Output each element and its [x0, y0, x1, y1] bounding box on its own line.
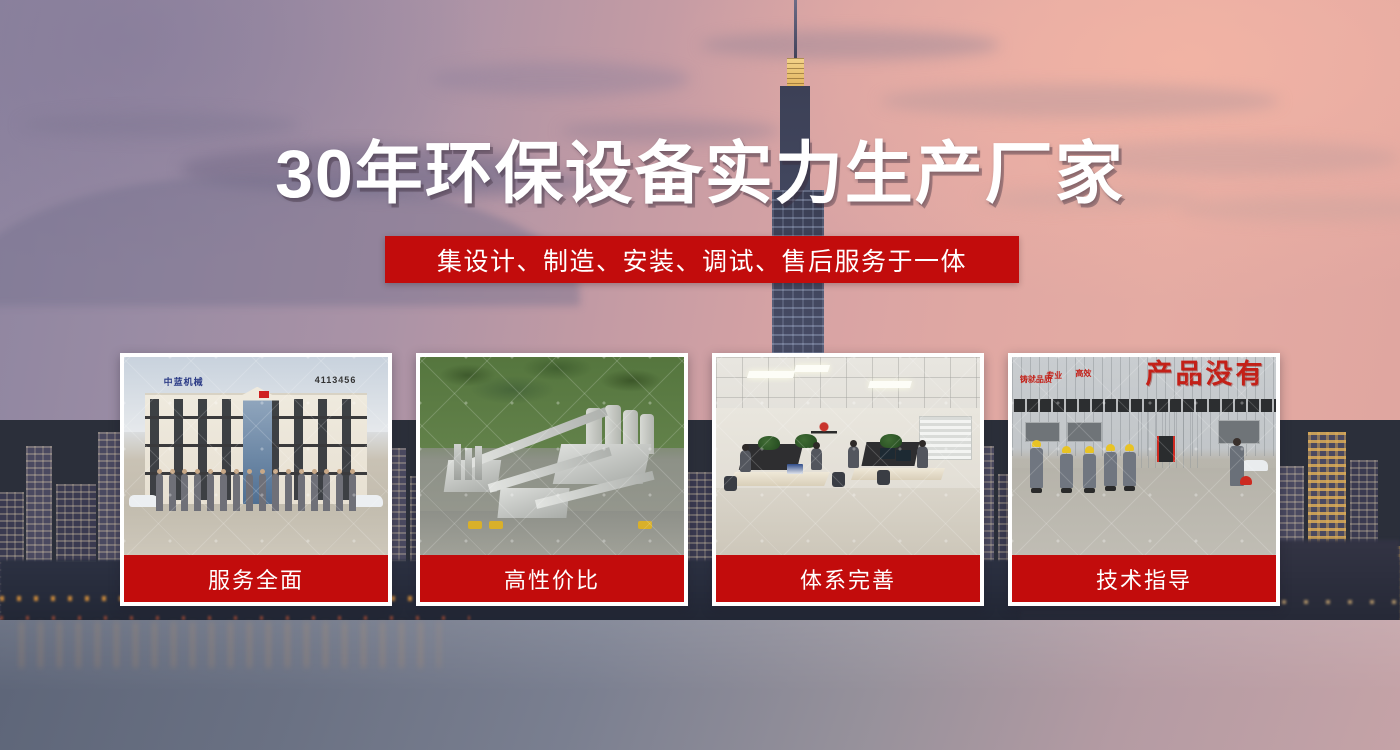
feature-card[interactable]: 体系完善 [712, 353, 984, 606]
card-photo-plant [420, 357, 684, 555]
card-label: 体系完善 [716, 555, 980, 602]
building-phone-text: 4113456 [315, 375, 357, 385]
cloud-shape [430, 62, 690, 96]
subtitle-banner: 集设计、制造、安装、调试、售后服务于一体 [385, 236, 1019, 283]
wall-slogan-main: 产品没有 [1145, 361, 1265, 388]
river-reflections [20, 622, 440, 668]
hero-banner: 30年环保设备实力生产厂家 集设计、制造、安装、调试、售后服务于一体 中蓝机械 … [0, 0, 1400, 750]
wall-slogan-c: 高效 [1075, 369, 1091, 379]
feature-card-list: 中蓝机械 4113456 服务全面 [120, 353, 1280, 606]
red-helmet-icon [1240, 476, 1252, 485]
card-photo-training: 产品没有 铸就品质 专业 高效 [1012, 357, 1276, 555]
cloud-shape [880, 84, 1280, 118]
subtitle-text: 集设计、制造、安装、调试、售后服务于一体 [437, 242, 967, 278]
card-photo-headquarters: 中蓝机械 4113456 [124, 357, 388, 555]
wall-slogan-b: 专业 [1046, 371, 1062, 381]
feature-card[interactable]: 产品没有 铸就品质 专业 高效 技术指导 [1008, 353, 1280, 606]
tower-spire [794, 0, 797, 60]
card-photo-office [716, 357, 980, 555]
feature-card[interactable]: 高性价比 [416, 353, 688, 606]
card-label: 技术指导 [1012, 555, 1276, 602]
card-label: 服务全面 [124, 555, 388, 602]
feature-card[interactable]: 中蓝机械 4113456 服务全面 [120, 353, 392, 606]
building-logo-text: 中蓝机械 [164, 375, 204, 388]
cloud-shape [700, 30, 1000, 60]
card-label: 高性价比 [420, 555, 684, 602]
flag-icon [259, 391, 269, 398]
page-title: 30年环保设备实力生产厂家 [0, 137, 1400, 211]
cloud-shape [20, 112, 300, 138]
